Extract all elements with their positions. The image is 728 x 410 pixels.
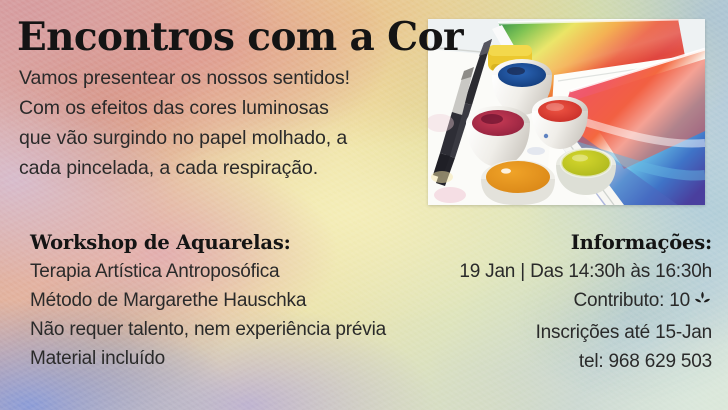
intro-paragraph: Vamos presentear os nossos sentidos! Com… [19,63,419,183]
intro-line: que vão surgindo no papel molhado, a [19,123,419,153]
information-column: Informações: 19 Jan | Das 14:30h às 16:3… [382,228,712,376]
info-datetime-line: 19 Jan | Das 14:30h às 16:30h [382,257,712,286]
info-registration-line: Inscrições até 15-Jan [382,318,712,347]
photo-illustration [428,19,705,205]
intro-line: cada pincelada, a cada respiração. [19,153,419,183]
intro-line: Com os efeitos das cores luminosas [19,93,419,123]
info-contribution-line: Contributo: 10 [382,286,712,318]
leaf-sprout-icon [693,289,712,318]
intro-line: Vamos presentear os nossos sentidos! [19,63,419,93]
watercolor-supplies-photo [428,19,705,205]
info-phone-line: tel: 968 629 503 [382,347,712,376]
poster-canvas: Encontros com a Cor Vamos presentear os … [0,0,728,410]
page-title: Encontros com a Cor [17,15,463,59]
information-heading: Informações: [382,228,712,257]
paint-pot-orange [481,160,555,205]
info-contribution-label: Contributo: 10 [573,290,690,311]
